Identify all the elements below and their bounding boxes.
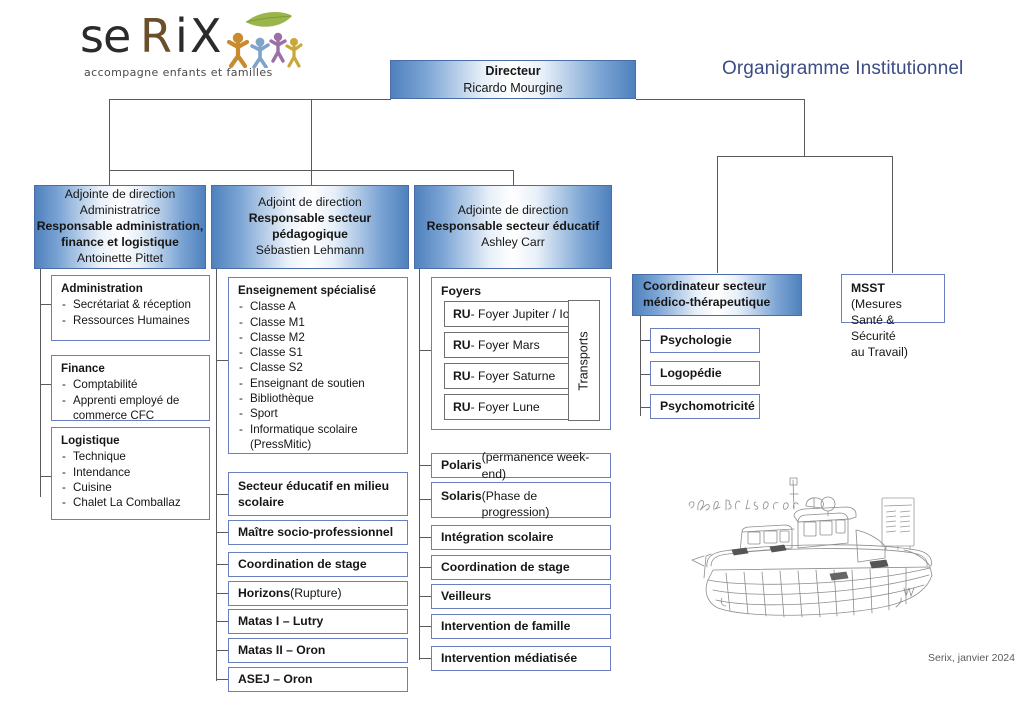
- stub-ed-8: [419, 658, 431, 659]
- ru-label: - Foyer Jupiter / Io: [471, 307, 570, 321]
- foyer-box-jupiter-io[interactable]: RU - Foyer Jupiter / Io: [444, 301, 583, 327]
- list-item: Comptabilité: [61, 377, 202, 392]
- list-item: Classe M2: [238, 330, 400, 345]
- deputy-box-educatif[interactable]: Adjointe de direction Responsable secteu…: [414, 185, 612, 269]
- educ-box-veilleurs[interactable]: Veilleurs: [431, 584, 611, 609]
- pedago-box-matas-2-oron[interactable]: Matas II – Oron: [228, 638, 408, 663]
- deputy2-line2: Responsable secteur pédagogique: [212, 211, 408, 243]
- medico-box-logopedie[interactable]: Logopédie: [650, 361, 760, 386]
- stub-ped-8: [216, 679, 228, 680]
- transports-box[interactable]: Transports: [568, 300, 600, 421]
- list-item: Cuisine: [61, 480, 202, 495]
- logistique-heading: Logistique: [61, 433, 202, 448]
- medico-coordinator-box[interactable]: Coordinateur secteur médico-thérapeutiqu…: [632, 274, 802, 316]
- ru-prefix: RU: [453, 307, 471, 321]
- deputy1-line1: Adjointe de direction: [35, 187, 205, 203]
- admin-box-logistique[interactable]: Logistique Technique Intendance Cuisine …: [51, 427, 210, 520]
- foyer-box-mars[interactable]: RU - Foyer Mars: [444, 332, 583, 358]
- admin-heading: Administration: [61, 281, 202, 296]
- medico-box-psychologie[interactable]: Psychologie: [650, 328, 760, 353]
- pedago-box-secteur-educatif-milieu-scolaire[interactable]: Secteur éducatif en milieu scolaire: [228, 472, 408, 516]
- connector-dep3-drop: [513, 170, 514, 185]
- medico-heading-l2: médico-thérapeutique: [633, 295, 811, 311]
- list-item: Ressources Humaines: [61, 313, 202, 328]
- stub-med-2: [640, 374, 650, 375]
- boat-illustration: [680, 470, 960, 640]
- svg-text:i: i: [175, 9, 187, 63]
- pedago-box-horizons[interactable]: Horizons (Rupture): [228, 581, 408, 606]
- box-sublabel: (Rupture): [290, 585, 341, 601]
- logo-tagline: accompagne enfants et familles: [84, 66, 273, 79]
- msst-l2: Santé & Sécurité: [851, 312, 937, 344]
- stub-ed-2: [419, 465, 431, 466]
- box-label: Matas I – Lutry: [238, 613, 323, 629]
- foyers-heading: Foyers: [432, 278, 610, 299]
- spine-educ: [419, 267, 420, 660]
- box-sublabel: (permanence week-end): [482, 449, 603, 481]
- educ-box-intervention-de-famille[interactable]: Intervention de famille: [431, 614, 611, 639]
- spine-medico: [640, 316, 641, 416]
- medico-heading-l1: Coordinateur secteur: [633, 279, 811, 295]
- stub-ped-4: [216, 564, 228, 565]
- list-item: Chalet La Comballaz: [61, 495, 202, 510]
- spine-pedago: [216, 267, 217, 681]
- spine-admin: [40, 267, 41, 497]
- footer-credit: Serix, janvier 2024: [928, 652, 1015, 664]
- medico-box-psychomotricite[interactable]: Psychomotricité: [650, 394, 760, 419]
- finance-cont: commerce CFC: [61, 408, 202, 423]
- educ-box-polaris[interactable]: Polaris (permanence week-end): [431, 453, 611, 478]
- deputy2-line3: Sébastien Lehmann: [212, 243, 408, 259]
- stub-ped-1: [216, 360, 228, 361]
- svg-text:X: X: [190, 9, 221, 63]
- ru-prefix: RU: [453, 400, 471, 414]
- stub-ped-2: [216, 494, 228, 495]
- deputy1-line3: Responsable administration,: [35, 219, 205, 235]
- deputy1-line4: finance et logistique: [35, 235, 205, 251]
- stub-ed-5: [419, 567, 431, 568]
- admin-box-administration[interactable]: Administration Secrétariat & réception R…: [51, 275, 210, 341]
- connector-right-top: [636, 99, 805, 100]
- connector-medico-drop: [717, 156, 718, 273]
- list-item: Informatique scolaire: [238, 422, 400, 437]
- connector-left-top: [109, 99, 391, 100]
- deputy1-line5: Antoinette Pittet: [35, 251, 205, 267]
- box-label: Logopédie: [660, 365, 722, 381]
- box-label: Intervention de famille: [441, 618, 570, 634]
- pedago-box-asej-oron[interactable]: ASEJ – Oron: [228, 667, 408, 692]
- ru-prefix: RU: [453, 338, 471, 352]
- educ-box-integration-scolaire[interactable]: Intégration scolaire: [431, 525, 611, 550]
- list-item: Apprenti employé de: [61, 393, 202, 408]
- stub-ped-3: [216, 532, 228, 533]
- box-label: Solaris: [441, 488, 482, 504]
- connector-msst-drop: [892, 156, 893, 273]
- finance-heading: Finance: [61, 361, 202, 376]
- deputy3-line2: Responsable secteur éducatif: [415, 219, 611, 235]
- msst-l1-rest: (Mesures: [851, 297, 902, 311]
- educ-box-coordination-de-stage[interactable]: Coordination de stage: [431, 555, 611, 580]
- ru-label: - Foyer Mars: [471, 338, 540, 352]
- stub-med-3: [640, 407, 650, 408]
- box-sublabel: (Phase de progression): [482, 488, 603, 520]
- foyer-box-lune[interactable]: RU - Foyer Lune: [444, 394, 583, 420]
- ru-label: - Foyer Lune: [471, 400, 540, 414]
- box-label: Polaris: [441, 457, 482, 473]
- box-label: Coordination de stage: [238, 556, 367, 572]
- foyer-box-saturne[interactable]: RU - Foyer Saturne: [444, 363, 583, 389]
- pedago-box-matas-1-lutry[interactable]: Matas I – Lutry: [228, 609, 408, 634]
- box-label-l1: Secteur éducatif en milieu: [238, 478, 400, 494]
- svg-text:R: R: [140, 9, 171, 63]
- stub-ped-7: [216, 650, 228, 651]
- serix-wordmark-icon: se R i X: [78, 8, 313, 68]
- enseignement-heading: Enseignement spécialisé: [238, 283, 400, 298]
- stub-ed-1: [419, 350, 431, 351]
- msst-l3: au Travail): [851, 344, 937, 360]
- list-item: Enseignant de soutien: [238, 376, 400, 391]
- box-label: Matas II – Oron: [238, 642, 325, 658]
- box-label: ASEJ – Oron: [238, 671, 313, 687]
- deputy3-line3: Ashley Carr: [415, 235, 611, 251]
- deputy2-line1: Adjoint de direction: [212, 195, 408, 211]
- list-item: Bibliothèque: [238, 391, 400, 406]
- director-name: Ricardo Mourgine: [391, 80, 635, 96]
- list-item: Sport: [238, 406, 400, 421]
- deputy-box-pedagogique[interactable]: Adjoint de direction Responsable secteur…: [211, 185, 409, 269]
- box-label: Psychomotricité: [660, 398, 755, 414]
- stub-med-1: [640, 340, 650, 341]
- box-label: Psychologie: [660, 332, 732, 348]
- box-label: Veilleurs: [441, 588, 491, 604]
- organigramme-canvas: se R i X accompag: [0, 0, 1030, 728]
- box-label: Horizons: [238, 585, 290, 601]
- box-label: Coordination de stage: [441, 559, 570, 575]
- stub-ped-6: [216, 621, 228, 622]
- pedago-box-enseignement[interactable]: Enseignement spécialisé Classe A Classe …: [228, 277, 408, 454]
- msst-acronym: MSST: [851, 281, 885, 295]
- deputy3-line1: Adjointe de direction: [415, 203, 611, 219]
- educ-box-solaris[interactable]: Solaris (Phase de progression): [431, 482, 611, 518]
- list-item: Technique: [61, 449, 202, 464]
- box-label: Intervention médiatisée: [441, 650, 577, 666]
- list-item: Secrétariat & réception: [61, 297, 202, 312]
- svg-text:se: se: [80, 9, 130, 63]
- pedago-box-coordination-de-stage[interactable]: Coordination de stage: [228, 552, 408, 577]
- list-item: Classe S2: [238, 360, 400, 375]
- msst-box[interactable]: MSST (Mesures Santé & Sécurité au Travai…: [841, 274, 945, 323]
- pedago-box-maitre-socio-professionnel[interactable]: Maître socio-professionnel: [228, 520, 408, 545]
- educ-box-intervention-mediatisee[interactable]: Intervention médiatisée: [431, 646, 611, 671]
- deputy1-line2: Administratrice: [35, 203, 205, 219]
- box-label-l2: scolaire: [238, 494, 400, 510]
- connector-left-drop: [109, 99, 110, 171]
- ru-label: - Foyer Saturne: [471, 369, 556, 383]
- director-role: Directeur: [391, 63, 635, 79]
- list-item: Classe M1: [238, 315, 400, 330]
- connector-dep1-drop: [109, 170, 110, 185]
- list-item: Classe A: [238, 299, 400, 314]
- admin-box-finance[interactable]: Finance Comptabilité Apprenti employé de…: [51, 355, 210, 421]
- stub-ed-6: [419, 596, 431, 597]
- box-label: Intégration scolaire: [441, 529, 553, 545]
- connector-right-bus: [717, 156, 893, 157]
- director-box[interactable]: Directeur Ricardo Mourgine: [390, 60, 636, 99]
- connector-right-drop: [804, 99, 805, 157]
- transports-label: Transports: [577, 331, 591, 390]
- serix-logo: se R i X accompag: [78, 8, 313, 80]
- pressmitic-cont: (PressMitic): [238, 437, 400, 452]
- connector-mid-drop: [311, 99, 312, 185]
- box-label: Maître socio-professionnel: [238, 524, 393, 540]
- stub-ed-4: [419, 537, 431, 538]
- ru-prefix: RU: [453, 369, 471, 383]
- stub-ed-3: [419, 499, 431, 500]
- list-item: Intendance: [61, 465, 202, 480]
- stub-ed-7: [419, 626, 431, 627]
- page-title: Organigramme Institutionnel: [722, 58, 963, 80]
- deputy-box-administration[interactable]: Adjointe de direction Administratrice Re…: [34, 185, 206, 269]
- list-item: Classe S1: [238, 345, 400, 360]
- stub-ped-5: [216, 593, 228, 594]
